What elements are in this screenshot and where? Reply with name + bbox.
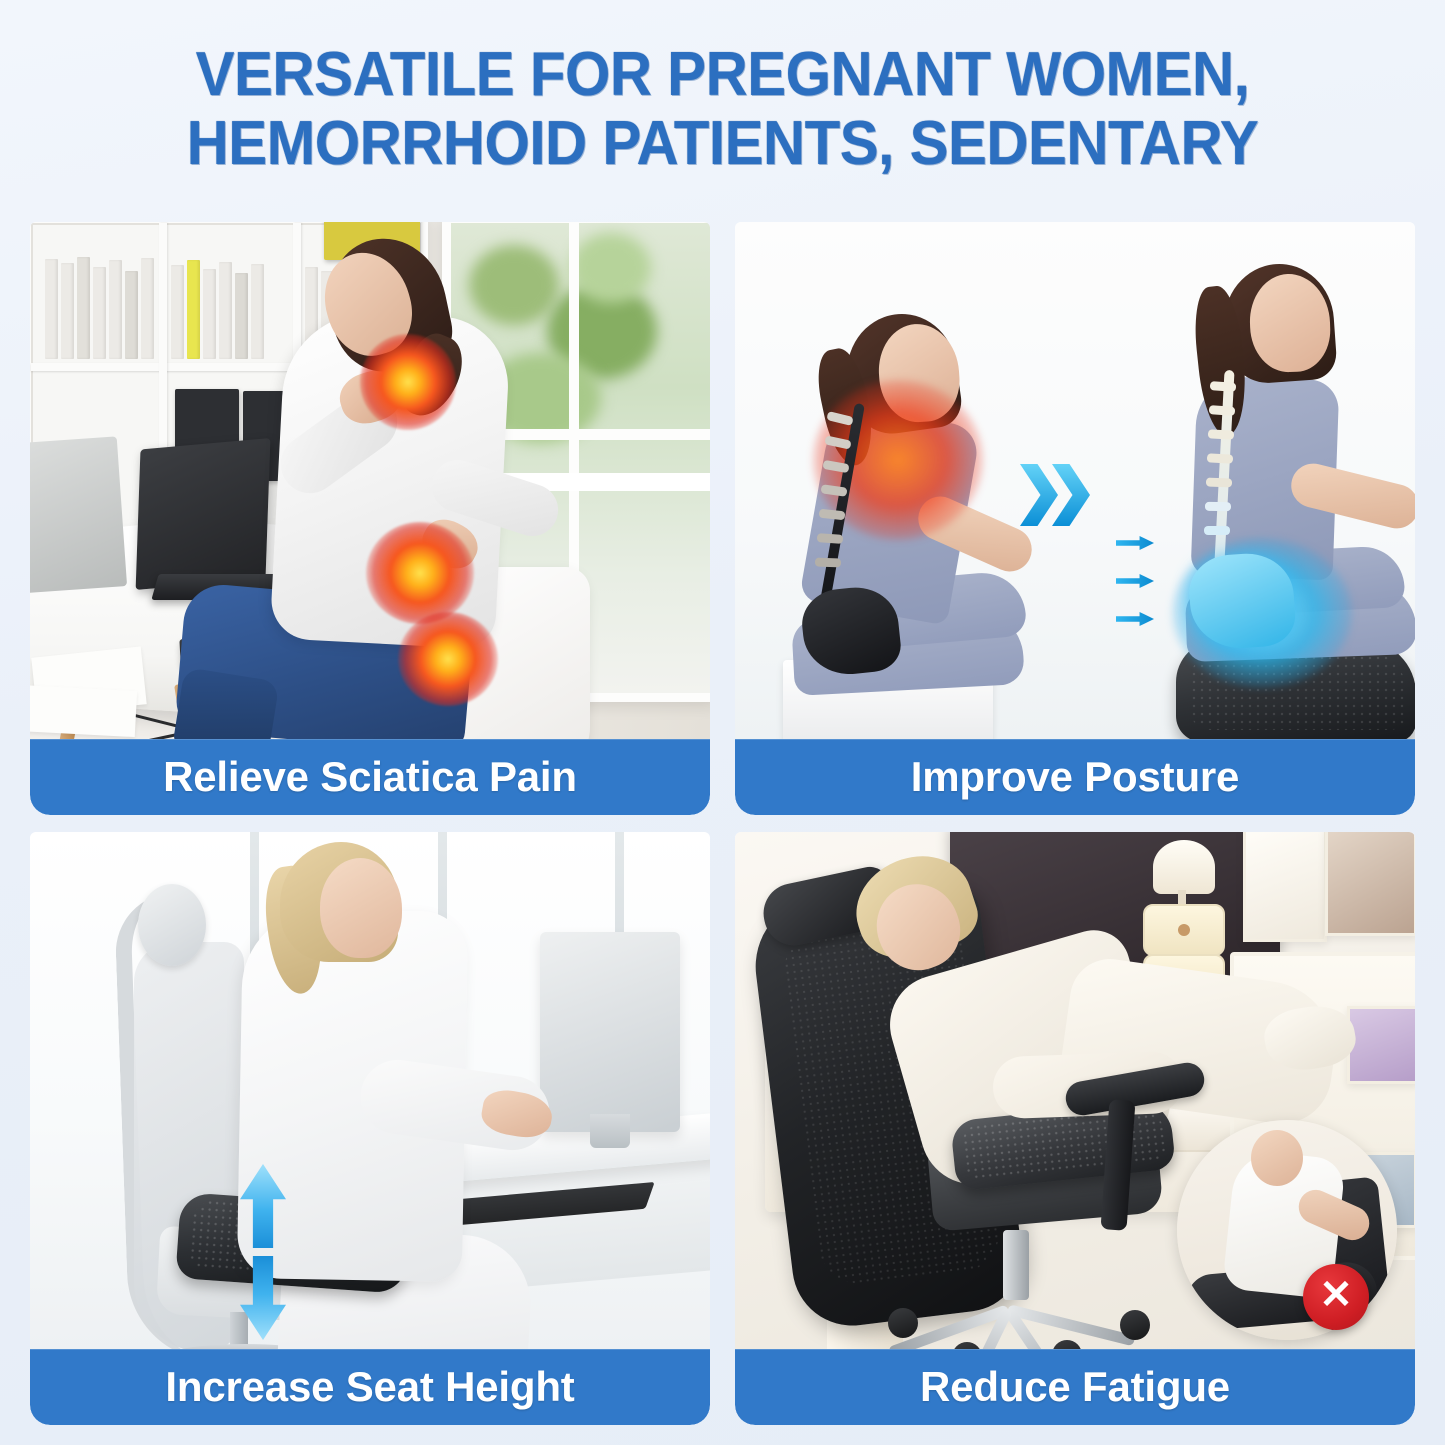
benefit-card-relieve-sciatica-pain[interactable]: Relieve Sciatica Pain — [30, 222, 710, 815]
lower-back-pain-glow — [366, 522, 474, 624]
picture-frame — [1347, 1006, 1415, 1084]
photo-reduce-fatigue: ✕ — [735, 832, 1415, 1352]
inset-person-head — [1251, 1130, 1303, 1186]
caption-improve-posture: Improve Posture — [735, 739, 1415, 815]
hip-thigh-pain-glow — [398, 612, 498, 706]
caption-reduce-fatigue: Reduce Fatigue — [735, 1349, 1415, 1425]
vertebra — [1205, 502, 1231, 511]
photo-office-neck-pain — [30, 222, 710, 742]
vertebra — [1209, 405, 1236, 416]
chair-caster — [1120, 1310, 1150, 1340]
vertebra — [1207, 453, 1233, 463]
person-head — [320, 858, 402, 958]
photo-seat-height — [30, 832, 710, 1352]
neck-pain-glow — [360, 334, 456, 430]
vertebra — [1206, 478, 1232, 488]
benefit-card-increase-seat-height[interactable]: Increase Seat Height — [30, 832, 710, 1425]
chair-base — [880, 1284, 1180, 1336]
chair-headrest — [138, 884, 206, 966]
vertebra — [1208, 429, 1234, 439]
monitor — [540, 932, 680, 1132]
x-icon: ✕ — [1319, 1275, 1353, 1315]
vertebra — [1204, 526, 1230, 535]
benefit-card-reduce-fatigue[interactable]: ✕ Reduce Fatigue — [735, 832, 1415, 1425]
figure-upright — [1110, 242, 1410, 742]
support-arrow — [1116, 574, 1154, 588]
monitor — [30, 436, 127, 593]
vertebra — [817, 533, 844, 544]
benefits-grid: Relieve Sciatica Pain — [30, 222, 1415, 1425]
chair-caster — [888, 1308, 918, 1338]
laptop-screen — [136, 438, 271, 590]
support-arrow — [1116, 612, 1154, 626]
vertebra — [815, 558, 841, 568]
vertebra — [1210, 381, 1237, 392]
page-title: VERSATILE FOR PREGNANT WOMEN, HEMORRHOID… — [43, 40, 1401, 179]
caption-relieve-sciatica-pain: Relieve Sciatica Pain — [30, 739, 710, 815]
photo-posture-comparison — [735, 222, 1415, 742]
support-arrow — [1116, 536, 1154, 550]
benefit-card-improve-posture[interactable]: Improve Posture — [735, 222, 1415, 815]
caption-increase-seat-height: Increase Seat Height — [30, 1349, 710, 1425]
storage-box — [1143, 904, 1225, 956]
desk-lamp — [1153, 840, 1215, 894]
red-x-badge: ✕ — [1303, 1264, 1369, 1330]
paper-sheet — [30, 685, 137, 737]
monitor-stand — [590, 1114, 630, 1148]
picture-frame — [1325, 832, 1415, 936]
chevron-arrow-1 — [1020, 464, 1058, 526]
picture-frame — [1243, 832, 1327, 942]
